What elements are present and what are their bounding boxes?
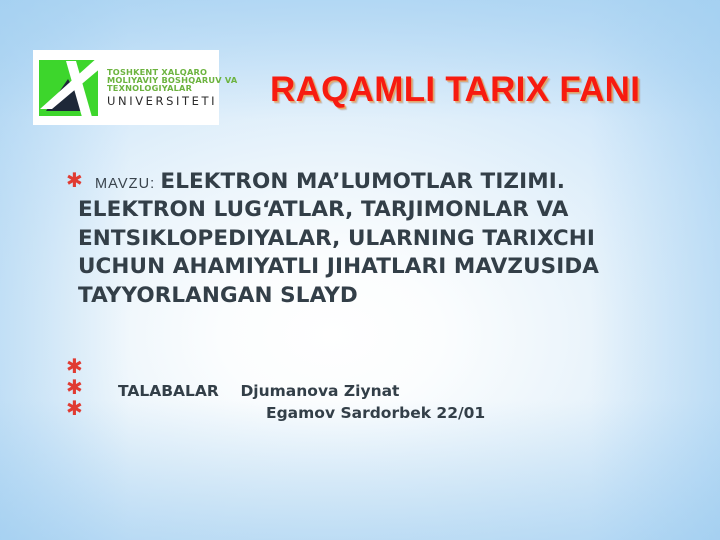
university-logo-text: TOSHKENT XALQARO MOLIYAVIY BOSHQARUV VA … (107, 68, 237, 108)
bullet-asterisk-icon-2: ✱ (66, 356, 88, 376)
presentation-slide: TOSHKENT XALQARO MOLIYAVIY BOSHQARUV VA … (0, 0, 720, 540)
mavzu-block: MAVZU: ELEKTRON MA’LUMOTLAR TIZIMI. ELEK… (78, 168, 638, 310)
mavzu-text: ELEKTRON MA’LUMOTLAR TIZIMI. ELEKTRON LU… (78, 169, 599, 308)
bullet-asterisk-icon-3: ✱ (66, 377, 88, 397)
logo-university-word: UNIVERSITETI (107, 96, 237, 108)
students-row-2: Egamov Sardorbek 22/01 (266, 402, 485, 424)
students-row-1: TALABALAR Djumanova Ziynat (118, 380, 485, 402)
university-logo: TOSHKENT XALQARO MOLIYAVIY BOSHQARUV VA … (33, 50, 219, 125)
logo-line-3: TEXNOLOGIYALAR (107, 84, 237, 92)
students-block: TALABALAR Djumanova Ziynat Egamov Sardor… (118, 380, 485, 424)
bullet-asterisk-icon-4: ✱ (66, 398, 88, 418)
university-logo-mark-icon (36, 55, 102, 121)
mavzu-label: MAVZU: (95, 176, 155, 192)
page-title: RAQAMLI TARIX FANI (270, 70, 700, 110)
